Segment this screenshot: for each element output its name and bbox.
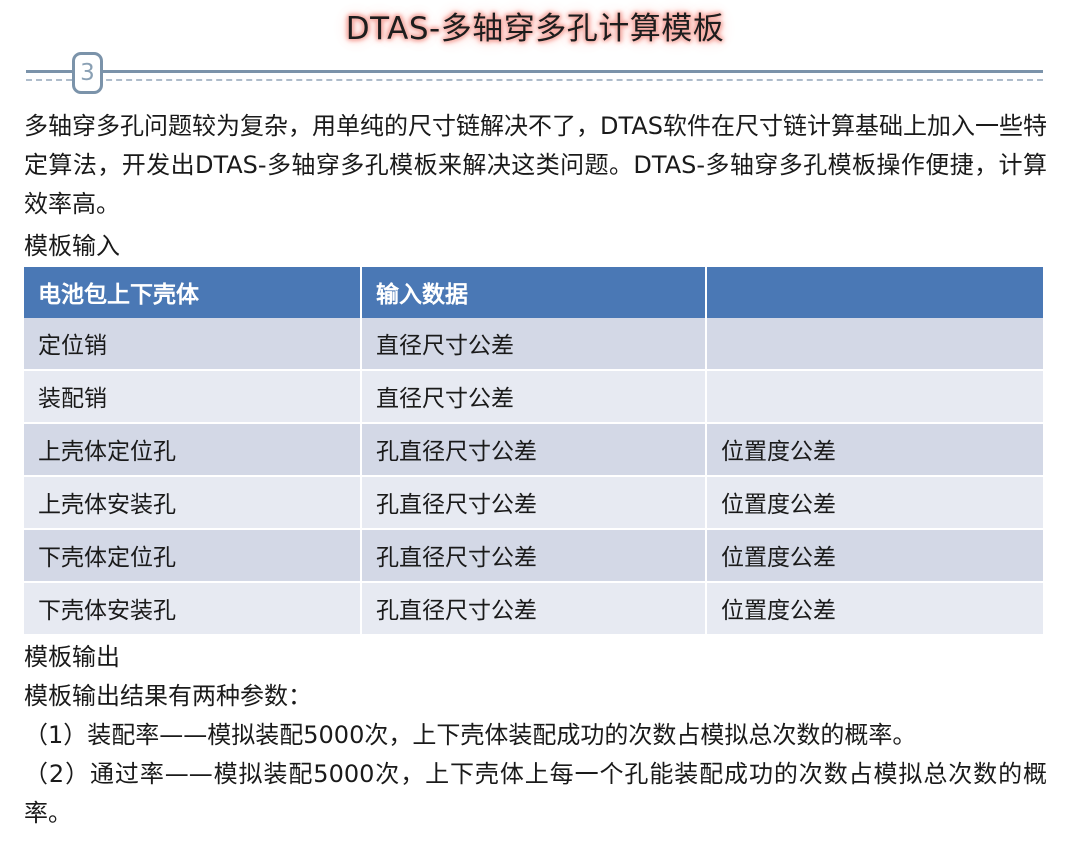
table-row: 下壳体安装孔 孔直径尺寸公差 位置度公差 [24,582,1043,634]
divider-dashed-line [26,79,1043,81]
table-cell-component: 下壳体定位孔 [24,529,361,582]
table-cell-extra: 位置度公差 [706,529,1043,582]
table-cell-input-data: 孔直径尺寸公差 [361,582,706,634]
table-cell-component: 下壳体安装孔 [24,582,361,634]
table-cell-extra: 位置度公差 [706,582,1043,634]
table-cell-component: 上壳体安装孔 [24,476,361,529]
table-row: 上壳体定位孔 孔直径尺寸公差 位置度公差 [24,423,1043,476]
table-header-cell-0: 电池包上下壳体 [24,267,361,318]
table-body: 定位销 直径尺寸公差 装配销 直径尺寸公差 上壳体定位孔 孔直径尺寸公差 位置度… [24,318,1043,634]
table-row: 下壳体定位孔 孔直径尺寸公差 位置度公差 [24,529,1043,582]
table-cell-input-data: 直径尺寸公差 [361,318,706,370]
table-cell-extra: 位置度公差 [706,423,1043,476]
table-cell-component: 定位销 [24,318,361,370]
intro-paragraph: 多轴穿多孔问题较为复杂，用单纯的尺寸链解决不了，DTAS软件在尺寸链计算基础上加… [24,107,1047,224]
table-cell-extra [706,370,1043,423]
table-cell-component: 装配销 [24,370,361,423]
table-cell-input-data: 孔直径尺寸公差 [361,423,706,476]
table-head: 电池包上下壳体 输入数据 [24,267,1043,318]
template-output-label: 模板输出 [24,638,524,677]
table-cell-input-data: 孔直径尺寸公差 [361,529,706,582]
table-header-row: 电池包上下壳体 输入数据 [24,267,1043,318]
table-cell-extra [706,318,1043,370]
output-params-intro: 模板输出结果有两种参数： [24,677,724,716]
page-number-badge: 3 [72,52,103,94]
table-cell-extra: 位置度公差 [706,476,1043,529]
table-header-cell-1: 输入数据 [361,267,706,318]
output-param-item-1: （1）装配率——模拟装配5000次，上下壳体装配成功的次数占模拟总次数的概率。 [24,716,1047,755]
output-param-item-2: （2）通过率——模拟装配5000次，上下壳体上每一个孔能装配成功的次数占模拟总次… [24,755,1047,833]
template-input-label: 模板输入 [24,227,424,266]
table-cell-input-data: 孔直径尺寸公差 [361,476,706,529]
table-cell-component: 上壳体定位孔 [24,423,361,476]
template-input-table: 电池包上下壳体 输入数据 定位销 直径尺寸公差 装配销 直径尺寸公差 上壳体定位… [24,267,1043,634]
divider-solid-line [26,70,1043,73]
table-header-cell-2 [706,267,1043,318]
title-divider: 3 [0,50,1070,96]
table-row: 装配销 直径尺寸公差 [24,370,1043,423]
table-cell-input-data: 直径尺寸公差 [361,370,706,423]
table-row: 定位销 直径尺寸公差 [24,318,1043,370]
table-row: 上壳体安装孔 孔直径尺寸公差 位置度公差 [24,476,1043,529]
page-title: DTAS-多轴穿多孔计算模板 [0,8,1070,50]
